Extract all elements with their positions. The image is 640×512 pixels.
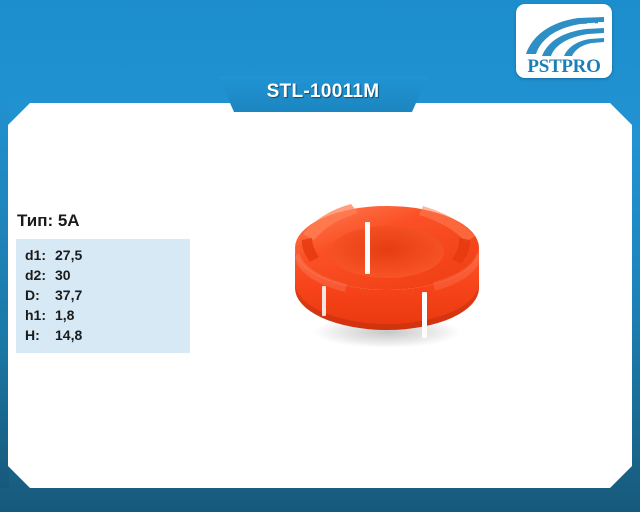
table-row: h1: 1,8 <box>16 307 190 327</box>
spec-value: 37,7 <box>55 287 82 303</box>
logo-text: PSTPRO <box>516 57 612 77</box>
bushing-illustration <box>283 190 488 355</box>
type-label: Тип: 5A <box>17 211 80 231</box>
logo-card: PSTPRO <box>516 4 612 78</box>
table-row: d2: 30 <box>16 267 190 287</box>
spec-key: h1: <box>25 307 55 323</box>
left-accent-strip <box>0 103 9 488</box>
table-row: D: 37,7 <box>16 287 190 307</box>
spec-value: 30 <box>55 267 71 283</box>
spec-key: d2: <box>25 267 55 283</box>
spec-value: 1,8 <box>55 307 74 323</box>
spec-key: H: <box>25 327 55 343</box>
table-row: d1: 27,5 <box>16 247 190 267</box>
specifications-table: d1: 27,5 d2: 30 D: 37,7 h1: 1,8 H: 14,8 <box>16 239 190 353</box>
spec-value: 27,5 <box>55 247 82 263</box>
road-highway-icon <box>516 6 612 58</box>
pstpro-logo[interactable]: PSTPRO <box>516 4 612 78</box>
spec-key: d1: <box>25 247 55 263</box>
title-banner: STL-10011M <box>218 76 428 112</box>
table-row: H: 14,8 <box>16 327 190 347</box>
page-title: STL-10011M <box>267 81 380 103</box>
product-image <box>283 190 488 355</box>
spec-key: D: <box>25 287 55 303</box>
product-card-screen: PSTPRO STL-10011M Тип: 5A d1: 27,5 d2: 3… <box>0 0 640 512</box>
spec-value: 14,8 <box>55 327 82 343</box>
